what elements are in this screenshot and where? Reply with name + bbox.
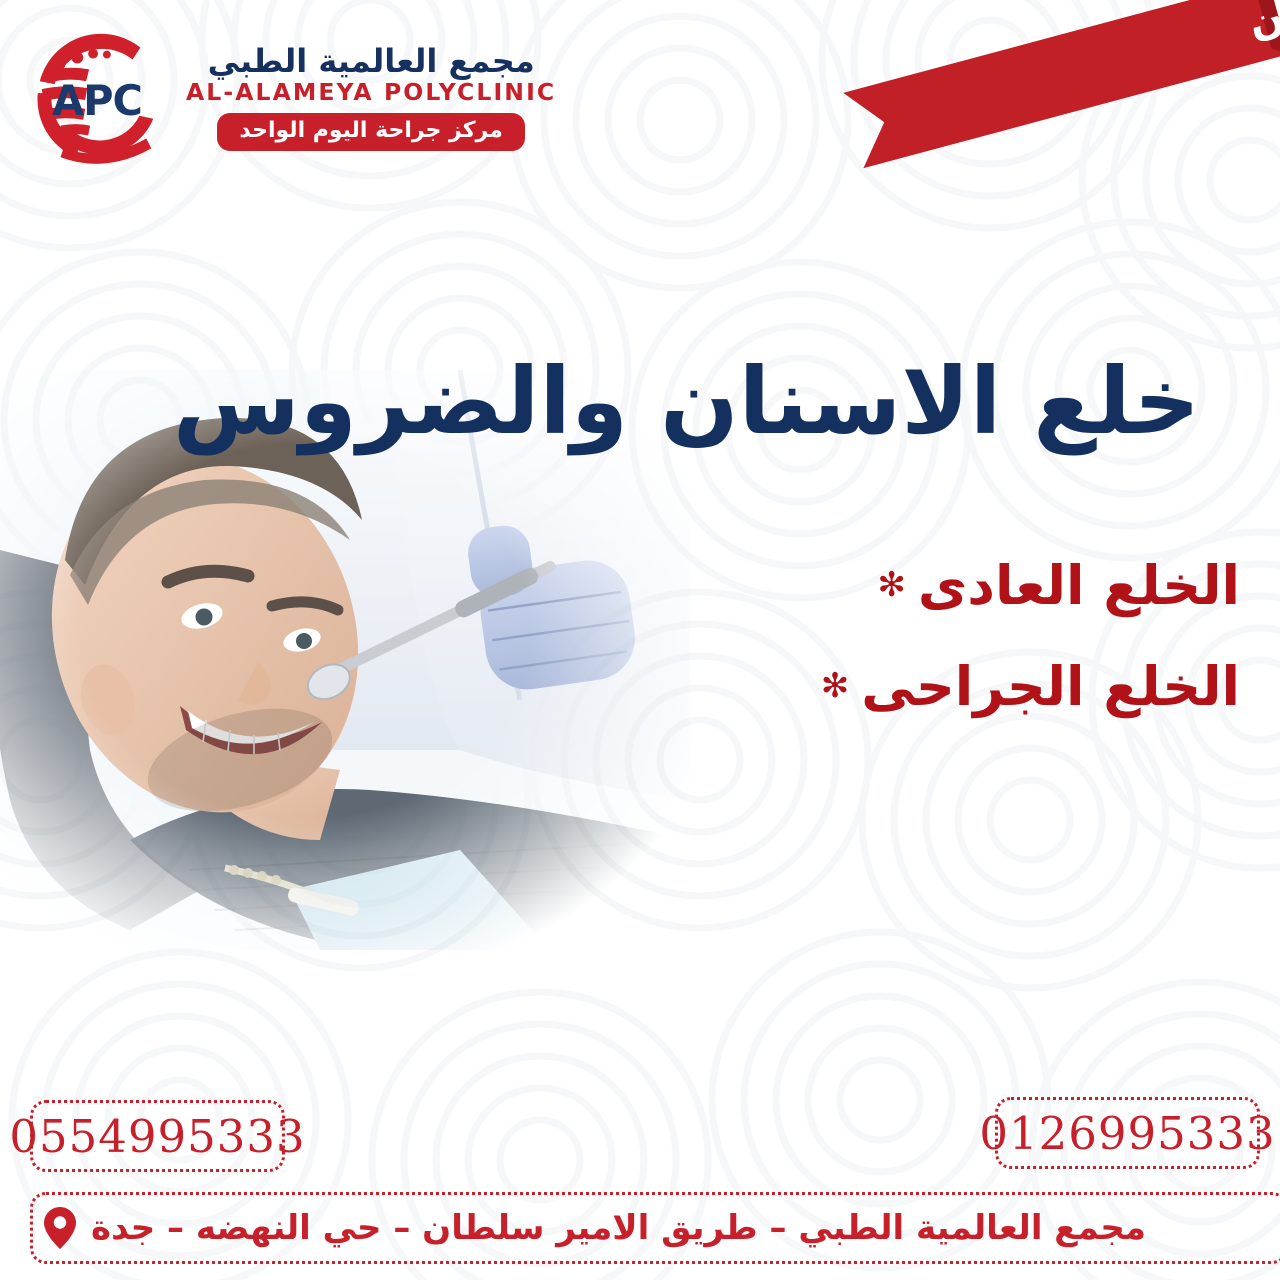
- ribbon-label: قسم طب وجراحة الاسنان: [1244, 0, 1280, 48]
- service-label: الخلع الجراحى: [861, 657, 1240, 716]
- department-ribbon: قسم طب وجراحة الاسنان: [820, 0, 1280, 184]
- brand-name-english: AL-ALAMEYA POLYCLINIC: [186, 80, 556, 106]
- service-label: الخلع العادى: [918, 556, 1240, 615]
- address-text: مجمع العالمية الطبي – طريق الامير سلطان …: [91, 1211, 1146, 1245]
- apc-globe-swoosh-logo-icon: APC: [24, 24, 172, 172]
- eight-petal-asterisk-icon: ✻: [821, 669, 850, 703]
- map-pin-icon: [43, 1206, 77, 1250]
- page-title: خلع الاسنان والضروس: [0, 352, 1240, 451]
- brand-tagline-badge: مركز جراحة اليوم الواحد: [217, 113, 524, 151]
- list-item: الخلع الجراحى ✻: [600, 657, 1240, 716]
- phone-number-landline-value: 0126995333: [979, 1111, 1275, 1156]
- svg-text:APC: APC: [52, 77, 142, 125]
- eight-petal-asterisk-icon: ✻: [877, 568, 906, 602]
- list-item: الخلع العادى ✻: [600, 556, 1240, 615]
- phone-number-landline[interactable]: 0126995333: [995, 1097, 1260, 1169]
- address-bar[interactable]: مجمع العالمية الطبي – طريق الامير سلطان …: [30, 1192, 1280, 1264]
- brand-name-arabic: مجمع العالمية الطبي: [208, 45, 535, 79]
- brand-logo[interactable]: APC مجمع العالمية الطبي AL-ALAMEYA POLYC…: [24, 24, 556, 172]
- services-list: الخلع العادى ✻ الخلع الجراحى ✻: [600, 556, 1240, 759]
- phone-number-mobile[interactable]: 0554995333: [30, 1100, 285, 1172]
- phone-number-mobile-value: 0554995333: [9, 1114, 305, 1159]
